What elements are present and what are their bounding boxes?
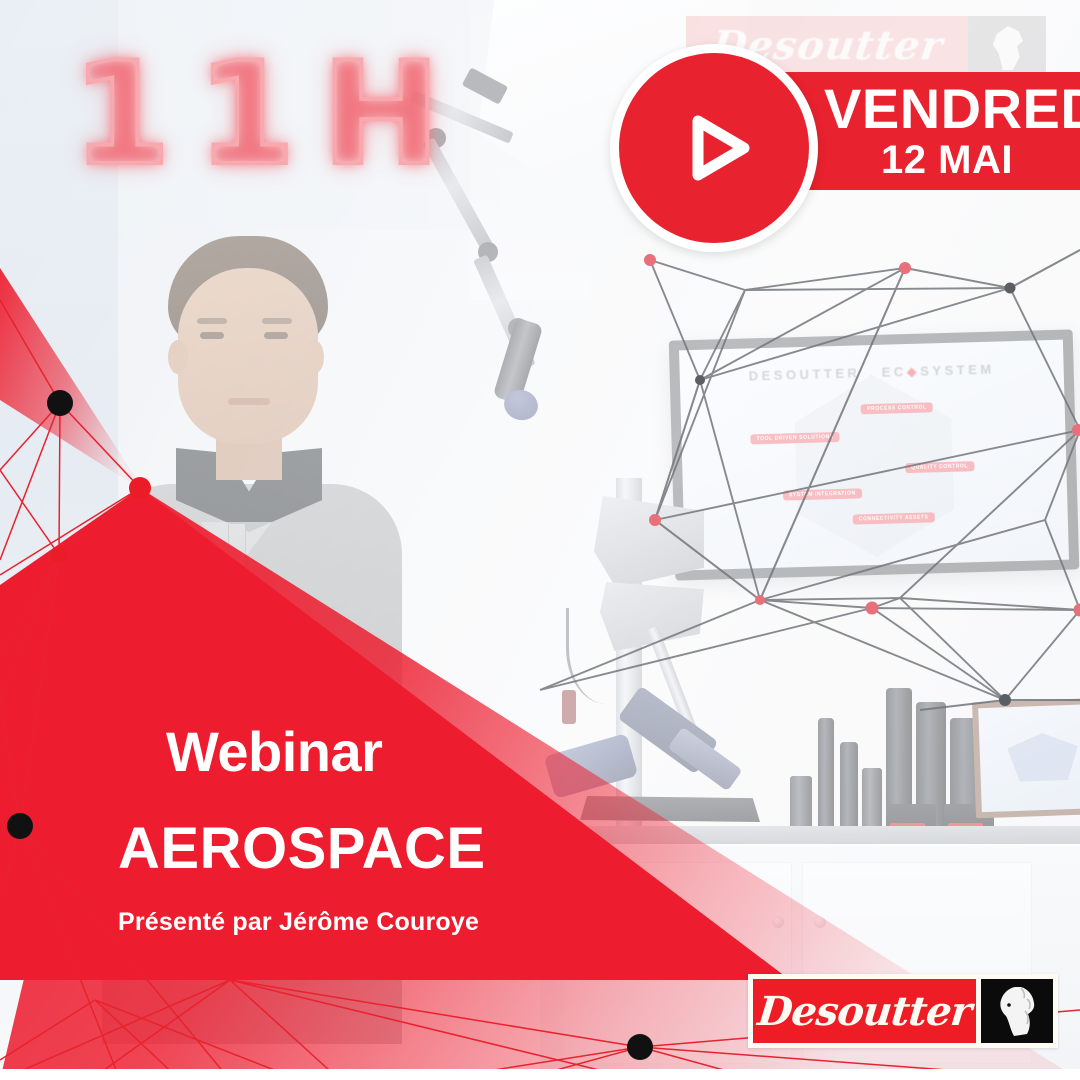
play-icon (662, 96, 766, 200)
logo-mascot-box (981, 979, 1053, 1043)
logo-wordmark: Desoutter (756, 988, 974, 1035)
red-corner-wedge (0, 268, 145, 492)
desoutter-logo: Desoutter (748, 974, 1058, 1048)
time-neon-text: 11H (72, 44, 466, 186)
date-badge: VENDREDI 12 MAI (610, 44, 1080, 194)
title-block: Webinar AEROSPACE Présenté par Jérôme Co… (118, 724, 678, 935)
date-day-label: VENDREDI (824, 80, 1070, 137)
webinar-poster: Desoutter DESOUTTER EC◆SYSTEM (0, 0, 1080, 1080)
presenter-line: Présenté par Jérôme Couroye (118, 910, 678, 935)
bottom-white-strip (0, 1069, 1080, 1080)
horse-head-icon (994, 985, 1040, 1037)
play-button[interactable] (610, 44, 818, 252)
date-date-label: 12 MAI (824, 138, 1070, 183)
title-line-2: AEROSPACE (118, 820, 678, 878)
title-line-1: Webinar (166, 724, 678, 780)
logo-wordmark-box: Desoutter (753, 979, 976, 1043)
